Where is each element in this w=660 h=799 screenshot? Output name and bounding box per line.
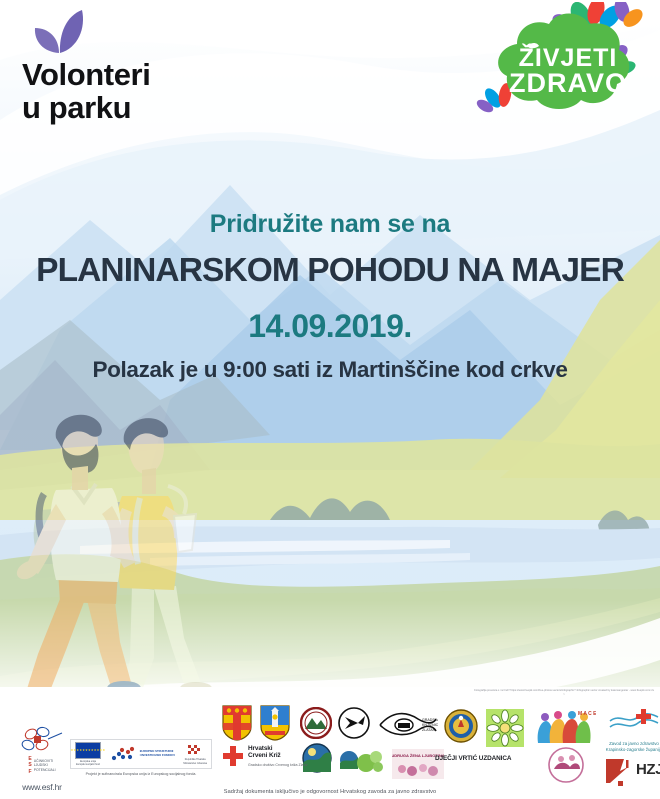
kindergarten-label: DJEČJI VRTIĆ UZDANICA	[435, 755, 511, 762]
footer-bar: Fotografija preuzeta s <a href="https://…	[0, 687, 660, 799]
intro-line: Pridružite nam se na	[0, 210, 660, 239]
krapina-zagorje-county-crest	[222, 705, 252, 746]
freepik-credit: Fotografija preuzeta s <a href="https://…	[474, 689, 654, 697]
event-date: 14.09.2019.	[0, 308, 660, 345]
main-copy: Pridružite nam se na PLANINARSKOM POHODU…	[0, 210, 660, 383]
esf-letters: E S F	[28, 756, 31, 775]
poster-canvas: Volonteri u parku	[0, 0, 660, 799]
red-cross-label: Hrvatski Crveni Križ	[248, 745, 281, 760]
esi-funds-mark: EUROPSKI STRUKTURNI I INVESTICIJSKI FOND…	[110, 746, 175, 762]
event-title: PLANINARSKOM POHODU NA MAJER	[0, 252, 660, 290]
esi-funds-text: EUROPSKI STRUKTURNI I INVESTICIJSKI FOND…	[140, 750, 175, 757]
two-leaves-icon	[22, 8, 252, 56]
eu-funding-caption: Projekt je sufinancirala Europska unija …	[70, 772, 212, 776]
brand-title: Volonteri u parku	[22, 58, 252, 124]
red-cross-icon	[222, 745, 244, 767]
hzjz-mark-icon	[604, 757, 636, 792]
gradska-knjiznica-zlatar-emblem: GRADSKA KNJIŽNICA ZLATAR	[378, 707, 438, 746]
ministry-caption: Republika Hrvatska Ministarstvo zdravstv…	[183, 758, 207, 764]
ministry-cell: Republika Hrvatska Ministarstvo zdravstv…	[183, 743, 207, 764]
footer-disclaimer: Sadržaj dokumenta isključivo je odgovorn…	[0, 789, 660, 795]
svg-text:ZLATAR: ZLATAR	[422, 728, 436, 732]
eu-flag-cell: ★★★★★★★★★★★★ Europska unija Europski soc…	[75, 742, 101, 766]
eu-flag-caption: Europska unija Europski socijalni fond	[76, 760, 100, 766]
kindergarten-daisy-emblem	[486, 709, 524, 752]
association-globes-emblem	[340, 745, 384, 780]
association-circle-emblem	[548, 747, 584, 788]
partner-logos-strip: Hrvatski Crveni Križ Gradsko društvo Crv…	[212, 705, 660, 791]
public-health-institute-label: Zavod za javno zdravstvo Krapinsko-zagor…	[602, 741, 660, 753]
town-crest	[260, 705, 290, 746]
childrens-hands-emblem: M A C E	[534, 707, 596, 752]
mountaineering-club-emblem	[300, 707, 332, 744]
croatian-red-cross	[222, 745, 244, 772]
brand-logo: Volonteri u parku	[22, 8, 252, 124]
eu-flag-icon: ★★★★★★★★★★★★	[75, 742, 101, 759]
zz-line2: ZDRAVO	[509, 68, 627, 98]
hzjz-label: HZJZ	[636, 761, 660, 778]
croatia-checkerboard-icon	[186, 743, 204, 757]
scout-emblem	[444, 709, 478, 748]
nature-park-emblem	[302, 743, 332, 778]
eu-funding-banner: ★★★★★★★★★★★★ Europska unija Europski soc…	[70, 739, 212, 769]
svg-text:GRADSKA: GRADSKA	[422, 718, 438, 722]
zivjeti-zdravo-logo: ŽIVJETI ZDRAVO	[465, 2, 650, 122]
esf-flower-icon	[18, 725, 66, 755]
meeting-info: Polazak je u 9:00 sati iz Martinščine ko…	[0, 357, 660, 383]
svg-text:KNJIŽNICA: KNJIŽNICA	[422, 722, 438, 727]
svg-text:M A C E: M A C E	[578, 711, 596, 717]
esf-words: UČINKOVITI LJUDSKI POTENCIJALI	[34, 759, 56, 772]
red-cross-sublabel: Gradsko društvo Crvenog križa Zlatar	[248, 763, 308, 767]
esf-tagline: E S F UČINKOVITI LJUDSKI POTENCIJALI	[6, 756, 78, 775]
esi-dots-icon	[110, 746, 138, 762]
two-hikers-illustration	[4, 398, 264, 708]
swallow-society-emblem	[338, 707, 370, 744]
esf-logo-block: E S F UČINKOVITI LJUDSKI POTENCIJALI www…	[6, 725, 78, 792]
